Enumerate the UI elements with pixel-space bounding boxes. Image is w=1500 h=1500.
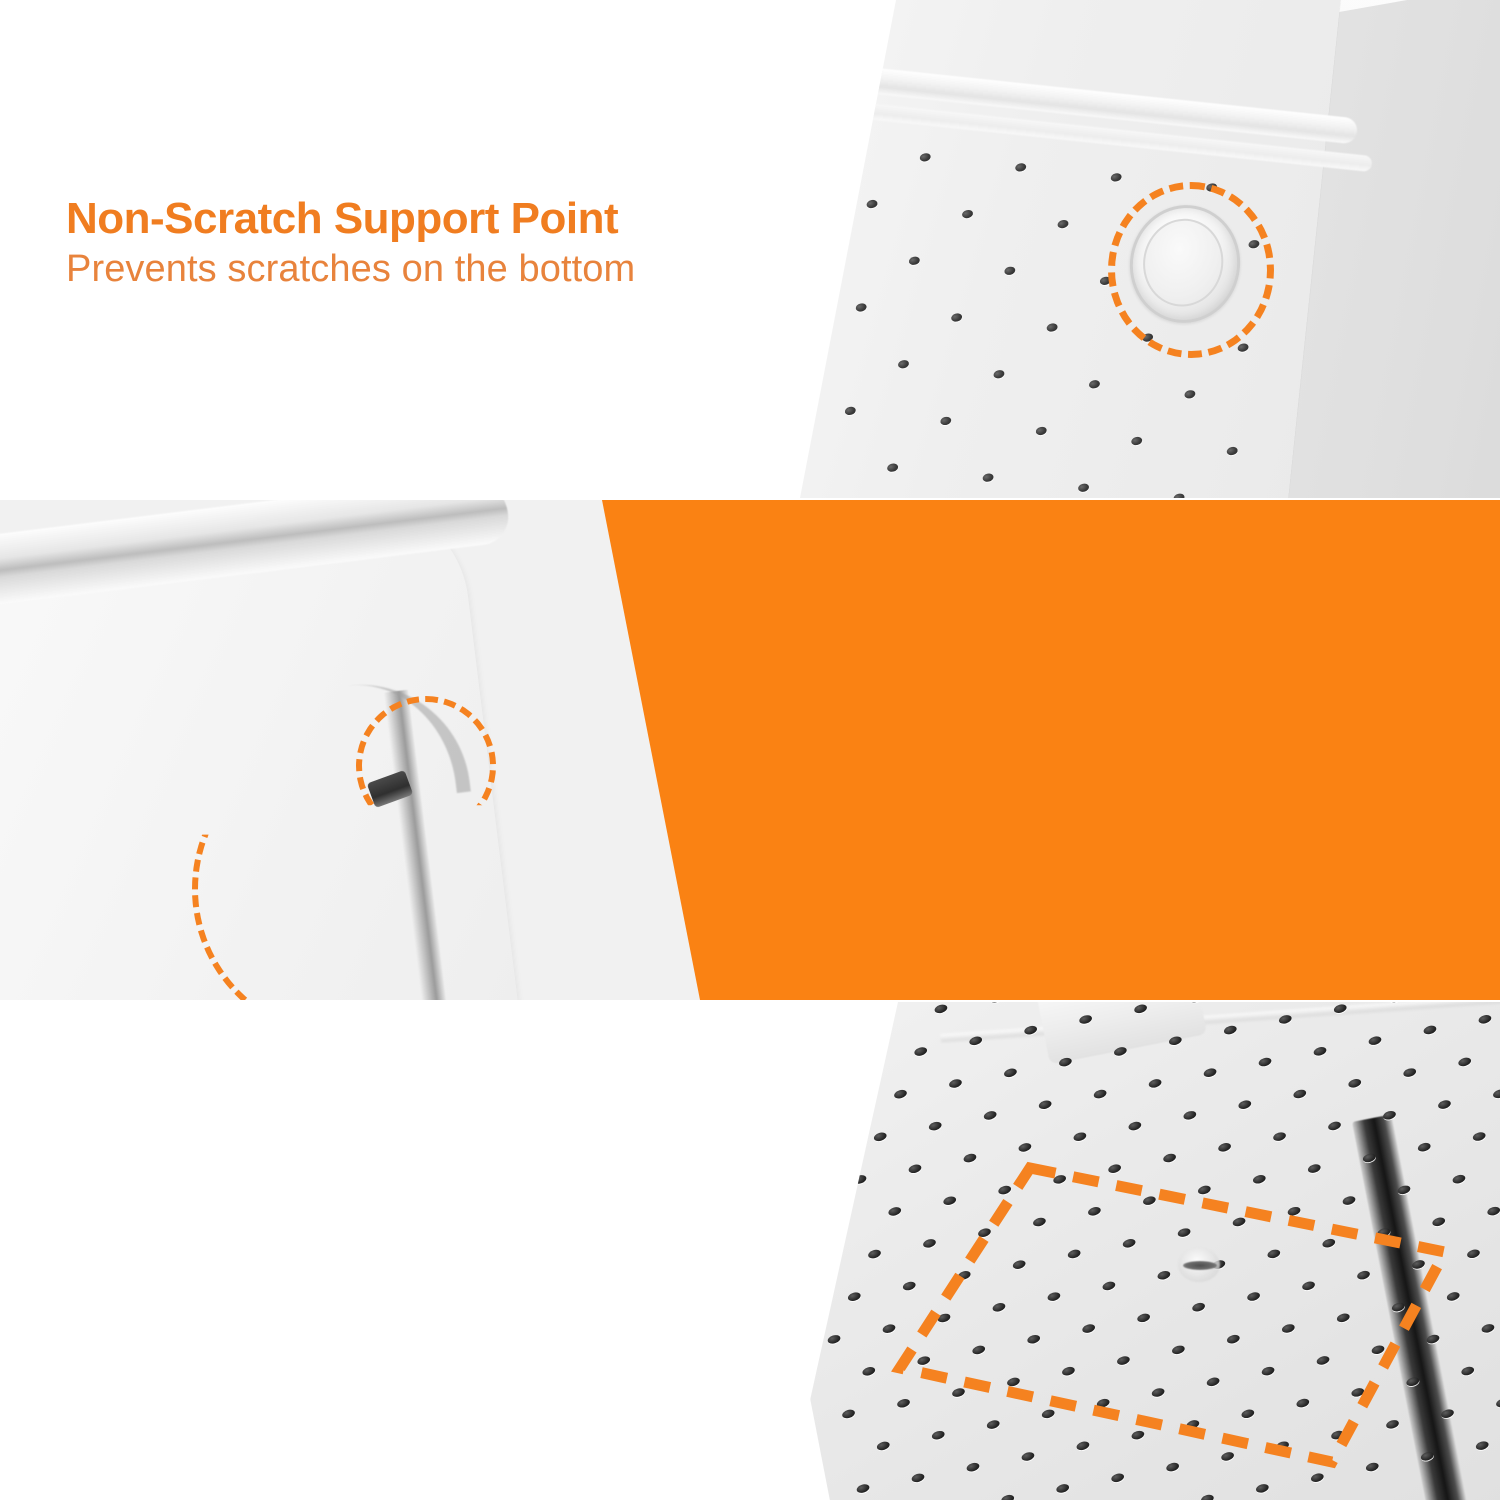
perforation-hole bbox=[858, 1056, 873, 1067]
perforation-hole bbox=[832, 1216, 847, 1227]
photo-round-corner bbox=[0, 500, 640, 1000]
dashed-circle-annotation-icon bbox=[1108, 182, 1274, 358]
perforation-hole bbox=[838, 1099, 853, 1110]
perforation-hole bbox=[789, 1002, 804, 1004]
product-feature-infographic: Non-Scratch Support Point Prevents scrat… bbox=[0, 0, 1500, 1500]
perforation-hole bbox=[798, 1184, 813, 1195]
perforation-hole bbox=[802, 349, 815, 359]
panel-round-corner-design: Round Corner Design Will not scratch the… bbox=[0, 500, 1500, 1000]
perforation-hole bbox=[791, 452, 804, 462]
perforation-hole bbox=[783, 1110, 798, 1121]
photo-pet-plastic-tray bbox=[0, 1002, 1500, 1500]
perforation-hole bbox=[818, 1142, 833, 1153]
perforation-hole bbox=[824, 1025, 839, 1036]
perforation-hole bbox=[803, 1067, 818, 1078]
perforation-hole bbox=[823, 142, 836, 152]
feature-subtitle: Prevents scratches on the bottom bbox=[66, 248, 635, 292]
perforation-hole bbox=[879, 1014, 894, 1025]
center-support-dimple-shadow bbox=[1183, 1261, 1217, 1270]
perforation-hole bbox=[812, 1259, 827, 1270]
panel-non-scratch-support-point: Non-Scratch Support Point Prevents scrat… bbox=[0, 0, 1500, 498]
feature-title: Non-Scratch Support Point bbox=[66, 196, 635, 242]
perforation-hole bbox=[769, 1035, 784, 1046]
perforation-hole bbox=[813, 246, 826, 256]
panel-pet-plastic: PET Plastic ultra-sturdy, so will not cr… bbox=[0, 1002, 1500, 1500]
feature-text-support-point: Non-Scratch Support Point Prevents scrat… bbox=[66, 196, 635, 292]
